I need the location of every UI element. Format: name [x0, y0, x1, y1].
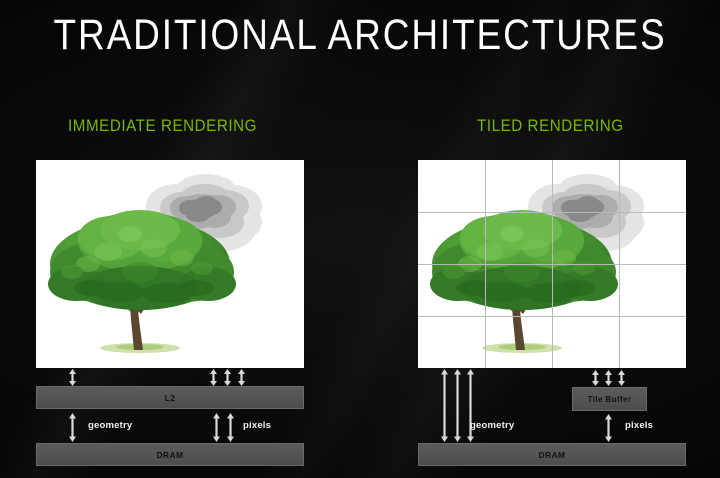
- page-title: TRADITIONAL ARCHITECTURES: [50, 12, 669, 58]
- arrow-l2-to-dram-geometry: [68, 413, 77, 442]
- flow-label-pixels-tiled: pixels: [625, 420, 653, 431]
- arrow-tile-buffer-to-dram-pixels: [604, 414, 613, 442]
- tree-scene-illustration-tiled: [418, 160, 686, 368]
- arrow-image-to-l2-pixels-2: [223, 369, 232, 386]
- memory-block-dram-tiled: DRAM: [418, 443, 686, 466]
- memory-block-tile-buffer: Tile Buffer: [572, 387, 647, 411]
- arrow-image-to-tile-buffer-2: [604, 370, 613, 386]
- arrow-image-to-tile-buffer-3: [617, 370, 626, 386]
- arrow-image-to-l2-geometry: [68, 369, 77, 386]
- render-preview-tiled: [418, 160, 686, 368]
- render-preview-immediate: [36, 160, 304, 368]
- memory-block-l2: L2: [36, 386, 304, 409]
- flow-label-geometry-immediate: geometry: [88, 420, 132, 431]
- arrow-image-to-dram-geometry-2: [453, 369, 462, 442]
- flow-label-geometry-tiled: geometry: [470, 420, 514, 431]
- arrow-l2-to-dram-pixels-1: [212, 413, 221, 442]
- slide-canvas: TRADITIONAL ARCHITECTURES IMMEDIATE REND…: [0, 0, 720, 478]
- arrow-l2-to-dram-pixels-2: [226, 413, 235, 442]
- memory-block-dram-immediate: DRAM: [36, 443, 304, 466]
- arrow-image-to-tile-buffer-1: [591, 370, 600, 386]
- flow-label-pixels-immediate: pixels: [243, 420, 271, 431]
- arrow-image-to-dram-geometry-1: [440, 369, 449, 442]
- panel-title-immediate-rendering: IMMEDIATE RENDERING: [68, 117, 257, 135]
- panel-title-tiled-rendering: TILED RENDERING: [477, 117, 624, 135]
- arrow-image-to-l2-pixels-1: [209, 369, 218, 386]
- arrow-image-to-dram-geometry-3: [466, 369, 475, 442]
- tree-scene-illustration: [36, 160, 304, 368]
- arrow-image-to-l2-pixels-3: [237, 369, 246, 386]
